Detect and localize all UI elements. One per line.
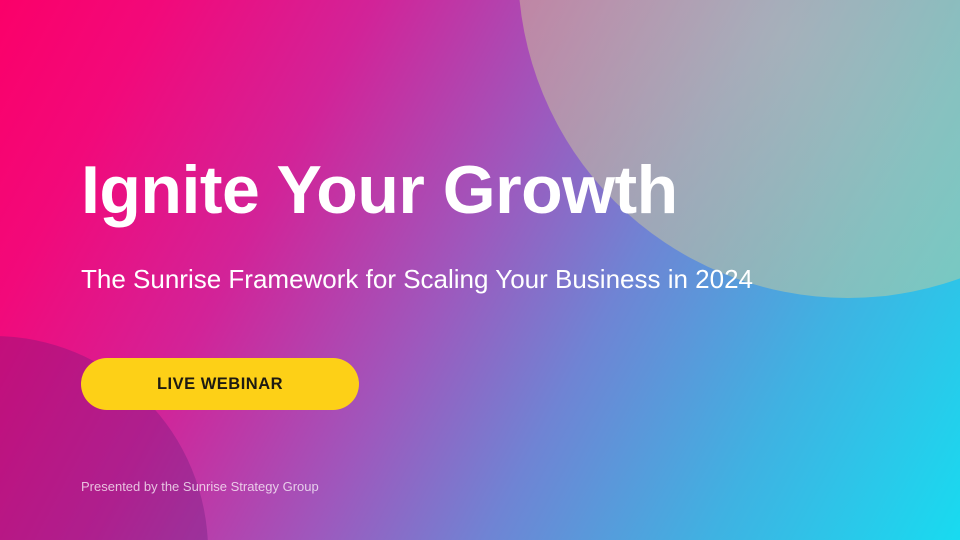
- slide-headline: Ignite Your Growth: [81, 156, 678, 224]
- slide-content: Ignite Your Growth The Sunrise Framework…: [81, 0, 901, 540]
- slide-subheadline: The Sunrise Framework for Scaling Your B…: [81, 262, 781, 296]
- presentation-slide: Ignite Your Growth The Sunrise Framework…: [0, 0, 960, 540]
- live-webinar-badge[interactable]: LIVE WEBINAR: [81, 358, 359, 410]
- slide-footer-credit: Presented by the Sunrise Strategy Group: [81, 479, 319, 494]
